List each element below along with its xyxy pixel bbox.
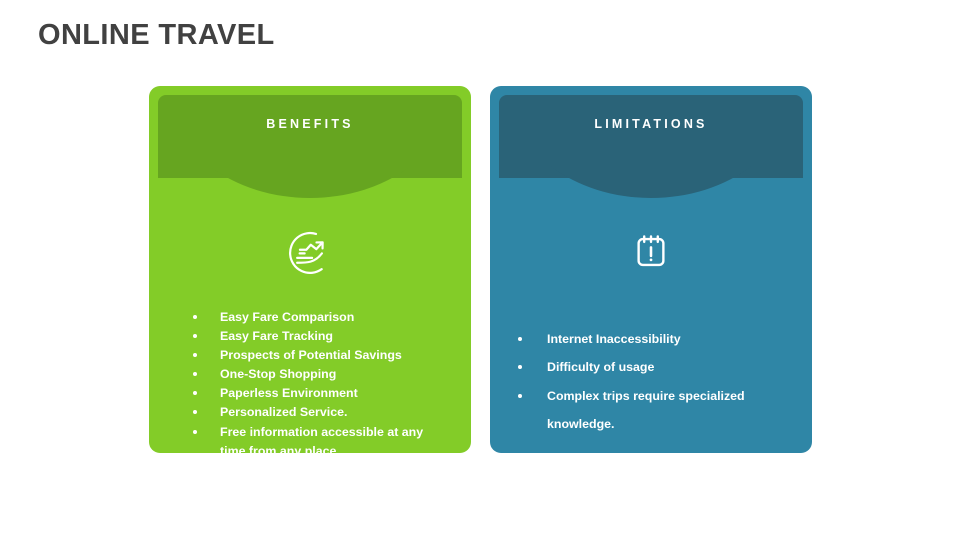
card-benefits-title: BENEFITS: [149, 117, 471, 131]
list-item: Free information accessible at any time …: [193, 423, 433, 453]
list-item-label: Free information accessible at any time …: [220, 425, 423, 453]
list-item: One-Stop Shopping: [193, 365, 433, 384]
bullet-dot-icon: [518, 337, 522, 341]
bullet-dot-icon: [193, 430, 197, 434]
bullet-dot-icon: [193, 391, 197, 395]
list-item-label: Prospects of Potential Savings: [220, 348, 402, 362]
list-item-label: Internet Inaccessibility: [547, 332, 681, 346]
limitations-list: Internet Inaccessibility Difficulty of u…: [518, 325, 768, 439]
list-item-label: Easy Fare Tracking: [220, 329, 333, 343]
list-item: Difficulty of usage: [518, 353, 768, 381]
list-item-label: Easy Fare Comparison: [220, 310, 354, 324]
list-item: Easy Fare Comparison: [193, 308, 433, 327]
page-title: ONLINE TRAVEL: [38, 19, 275, 52]
list-item-label: Complex trips require specialized knowle…: [547, 389, 745, 431]
list-item: Internet Inaccessibility: [518, 325, 768, 353]
card-limitations[interactable]: LIMITATIONS Internet Inaccessibility Dif…: [490, 86, 812, 453]
bullet-dot-icon: [193, 353, 197, 357]
list-item: Prospects of Potential Savings: [193, 346, 433, 365]
bullet-dot-icon: [193, 410, 197, 414]
bullet-dot-icon: [193, 334, 197, 338]
benefits-list: Easy Fare Comparison Easy Fare Tracking …: [193, 308, 433, 453]
list-item: Easy Fare Tracking: [193, 327, 433, 346]
list-item: Personalized Service.: [193, 403, 433, 422]
card-limitations-title: LIMITATIONS: [490, 117, 812, 131]
card-benefits-header-band: [158, 95, 462, 178]
bullet-dot-icon: [193, 315, 197, 319]
bullet-dot-icon: [518, 365, 522, 369]
list-item: Paperless Environment: [193, 384, 433, 403]
list-item-label: Paperless Environment: [220, 386, 358, 400]
list-item: Complex trips require specialized knowle…: [518, 382, 768, 439]
list-item-label: Personalized Service.: [220, 405, 347, 419]
calendar-alert-icon: [490, 230, 812, 274]
bullet-dot-icon: [518, 394, 522, 398]
card-limitations-header-band: [499, 95, 803, 178]
list-item-label: Difficulty of usage: [547, 360, 654, 374]
list-item-label: One-Stop Shopping: [220, 367, 336, 381]
bullet-dot-icon: [193, 372, 197, 376]
card-benefits[interactable]: BENEFITS Easy Fare Comparison Easy Fare …: [149, 86, 471, 453]
hand-growth-arrow-icon: [149, 230, 471, 276]
